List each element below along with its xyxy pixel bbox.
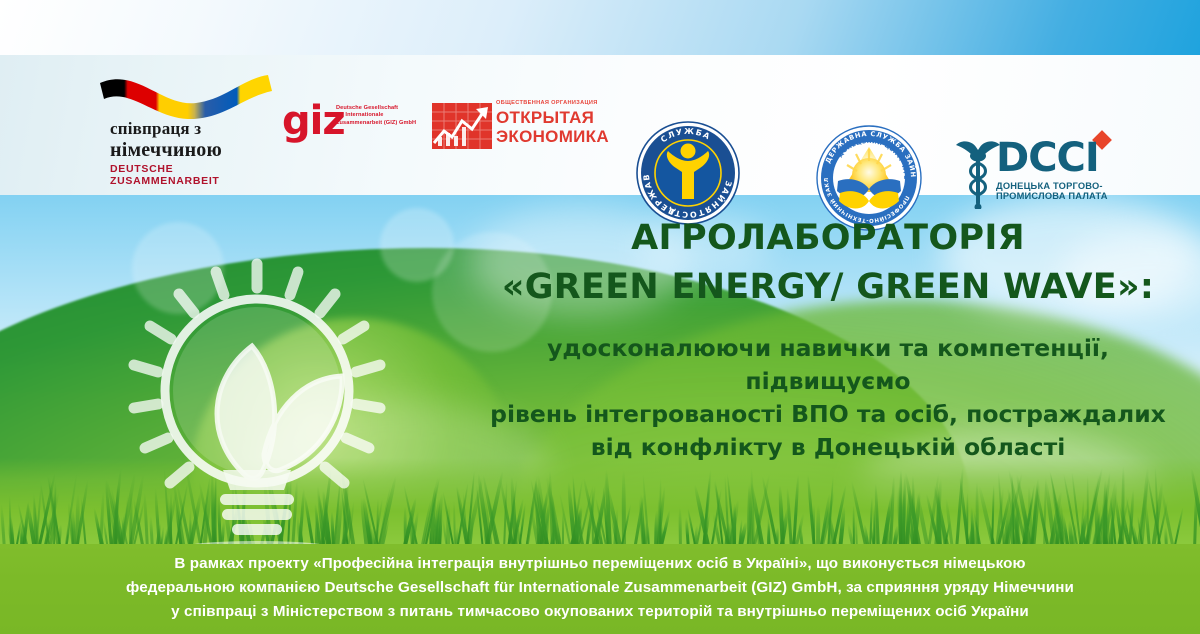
- german-ukrainian-flag-ribbon-icon: [96, 73, 272, 119]
- subheadline-line3: від конфлікту в Донецькій області: [470, 431, 1186, 464]
- lightbulb-leaf-icon: [92, 258, 422, 558]
- subheadline-line2: рівень інтегрованості ВПО та осіб, постр…: [470, 398, 1186, 431]
- footer-line3: у співпраці з Міністерством з питань тим…: [0, 600, 1200, 624]
- growth-chart-icon: [432, 103, 492, 149]
- dcci-subtext-line1: ДОНЕЦЬКА ТОРГОВО-: [996, 181, 1103, 191]
- open-economy-line1: ОТКРЫТАЯ: [496, 108, 594, 127]
- footer-band: В рамках проекту «Професійна інтеграція …: [0, 544, 1200, 634]
- headline-line2: «GREEN ENERGY/ GREEN WAVE»:: [470, 262, 1186, 312]
- poster-subheadline: удосконалюючи навички та компетенції, пі…: [470, 332, 1186, 464]
- logo-open-economy: ОБЩЕСТВЕННАЯ ОРГАНИЗАЦИЯ ОТКРЫТАЯ ЭКОНОМ…: [432, 99, 612, 155]
- partner-logo-banner: співпраця з німеччиною DEUTSCHE ZUSAMMEN…: [0, 55, 1200, 195]
- dcci-wordmark: DCCI: [996, 137, 1099, 179]
- sky-top-gradient: [0, 0, 1200, 58]
- subheadline-line1: удосконалюючи навички та компетенції, пі…: [470, 332, 1186, 398]
- logo-dcci: DCCI ДОНЕЦЬКА ТОРГОВО- ПРОМИСЛОВА ПАЛАТА: [952, 137, 1122, 215]
- logo-de-line3: DEUTSCHE ZUSAMMENARBEIT: [110, 163, 270, 187]
- open-economy-kicker: ОБЩЕСТВЕННАЯ ОРГАНИЗАЦИЯ: [496, 100, 616, 106]
- logo-de-line1: співпраця з: [110, 119, 256, 139]
- logo-deutsche-zusammenarbeit: співпраця з німеччиною DEUTSCHE ZUSAMMEN…: [92, 73, 272, 181]
- footer-line2: федеральною компанією Deutsche Gesellsch…: [0, 576, 1200, 600]
- dcci-subtext-line2: ПРОМИСЛОВА ПАЛАТА: [996, 191, 1108, 201]
- logo-de-line2: німеччиною: [110, 139, 262, 161]
- headline-line1: АГРОЛАБОРАТОРІЯ: [470, 214, 1186, 262]
- poster-canvas: співпраця з німеччиною DEUTSCHE ZUSAMMEN…: [0, 0, 1200, 634]
- logo-state-employment-service: СЛУЖБА ЗАЙНЯТОСТІ ДЕРЖАВНА: [636, 121, 740, 225]
- poster-headline: АГРОЛАБОРАТОРІЯ «GREEN ENERGY/ GREEN WAV…: [470, 214, 1186, 312]
- footer-disclaimer: В рамках проекту «Професійна інтеграція …: [0, 552, 1200, 624]
- footer-line1: В рамках проекту «Професійна інтеграція …: [0, 552, 1200, 576]
- open-economy-line2: ЭКОНОМИКА: [496, 127, 609, 146]
